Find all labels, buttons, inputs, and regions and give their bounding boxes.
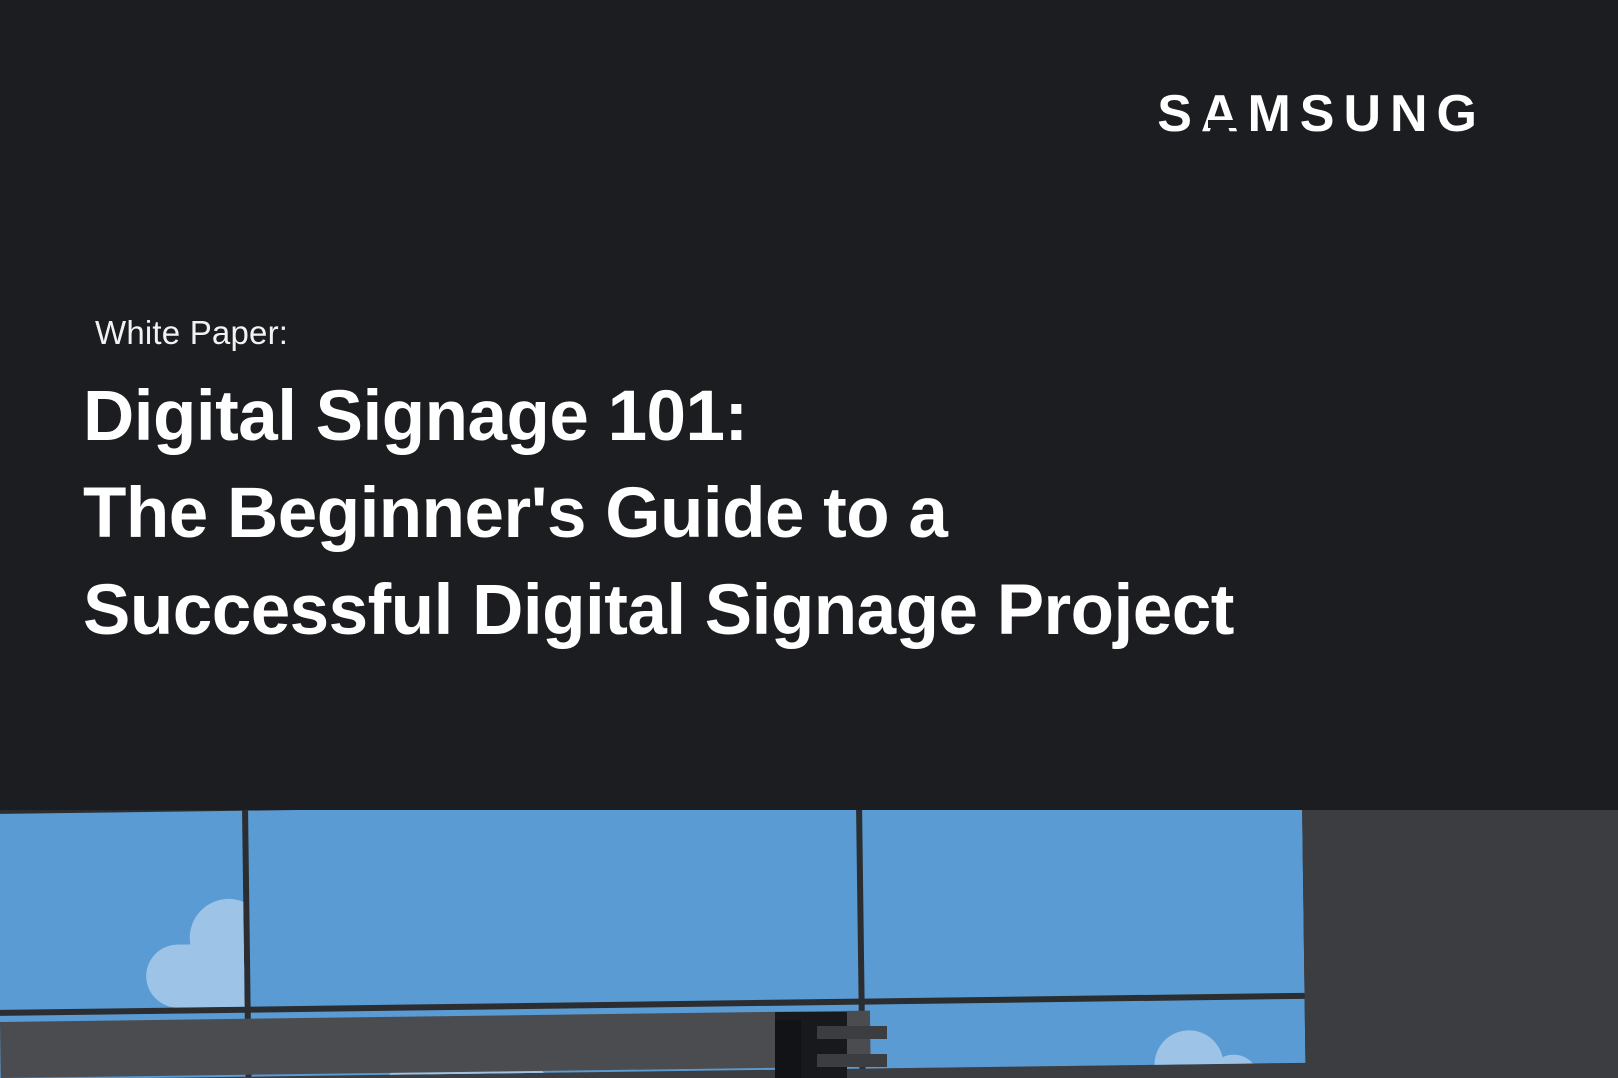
mount-arm-lower bbox=[817, 1054, 887, 1067]
page-title-line-1: Digital Signage 101: bbox=[83, 368, 1513, 465]
page-title: Digital Signage 101: The Beginner's Guid… bbox=[83, 368, 1513, 659]
page-title-line-3: Successful Digital Signage Project bbox=[83, 562, 1513, 659]
hero-panel: SAMSUNG White Paper: Digital Signage 101… bbox=[0, 0, 1618, 812]
samsung-logo: SAMSUNG bbox=[1157, 88, 1486, 140]
cloud-puff-large bbox=[1154, 1030, 1224, 1075]
cloud-icon bbox=[1115, 1029, 1266, 1074]
display-panel-r1c3 bbox=[862, 810, 1305, 999]
cloud-icon bbox=[145, 898, 244, 1008]
display-panel-r1c1 bbox=[0, 811, 245, 1010]
cloud-base bbox=[1116, 1070, 1267, 1075]
page-title-line-2: The Beginner's Guide to a bbox=[83, 465, 1513, 562]
samsung-logo-letter-a: A bbox=[1201, 88, 1248, 140]
display-panel-r1c2 bbox=[248, 810, 859, 1007]
cloud-base bbox=[146, 943, 245, 1008]
cover-page: SAMSUNG White Paper: Digital Signage 101… bbox=[0, 0, 1618, 1078]
samsung-logo-part-2: MSUNG bbox=[1247, 85, 1486, 143]
display-panel-r2c3 bbox=[865, 999, 1306, 1075]
samsung-logo-part-1: S bbox=[1157, 85, 1201, 143]
display-mount-bracket bbox=[775, 1012, 847, 1078]
mount-post bbox=[775, 1020, 801, 1078]
mount-arm-upper bbox=[817, 1026, 887, 1039]
document-type-label: White Paper: bbox=[95, 313, 288, 353]
display-shelf bbox=[0, 1011, 871, 1078]
